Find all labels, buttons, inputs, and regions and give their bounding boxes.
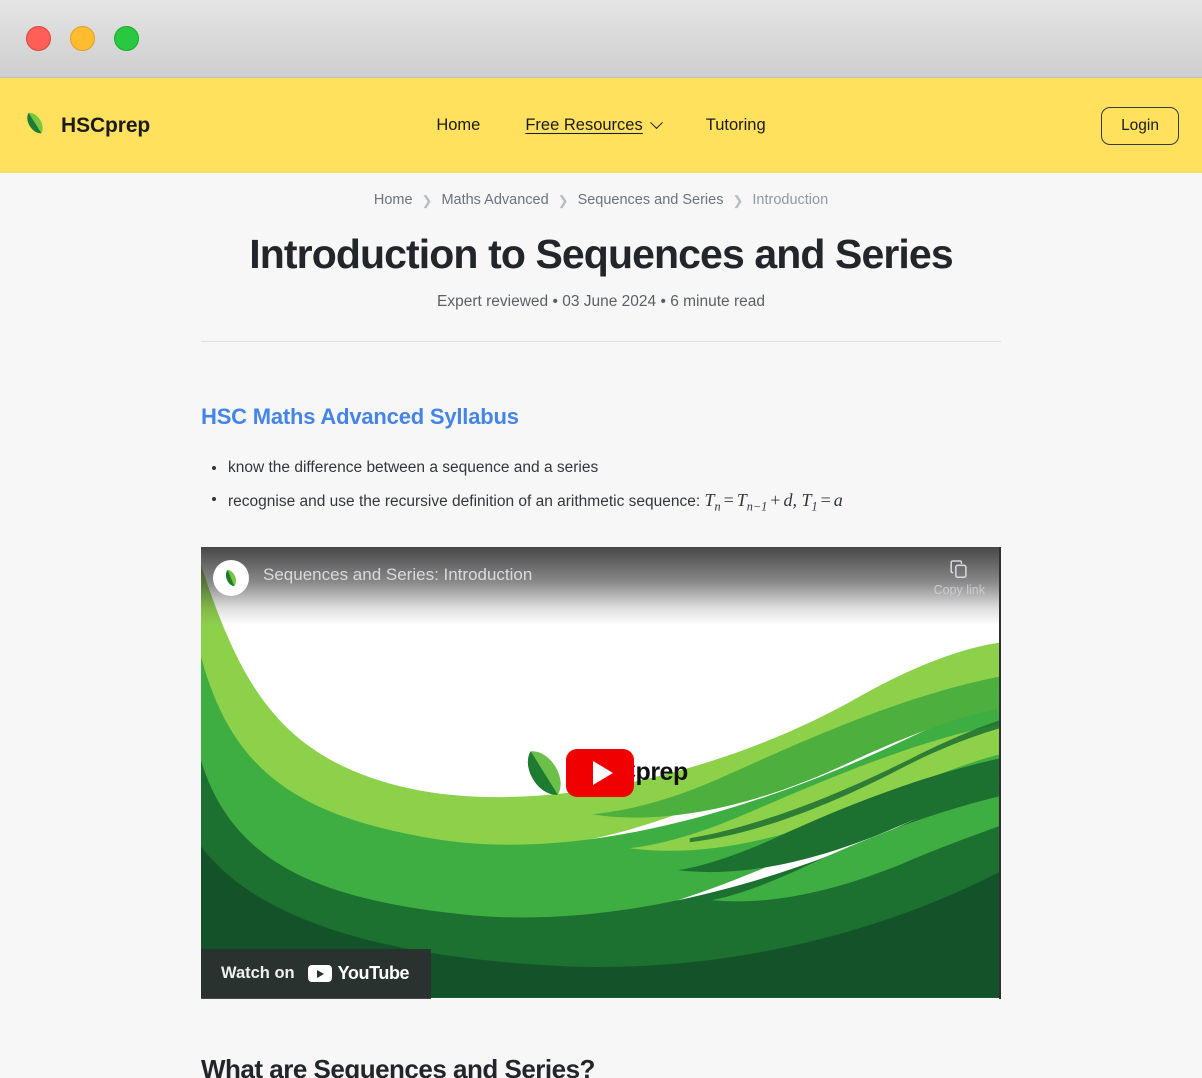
- syllabus-heading: HSC Maths Advanced Syllabus: [201, 404, 1001, 430]
- play-triangle-icon: [593, 761, 613, 785]
- channel-avatar[interactable]: [213, 560, 249, 596]
- syllabus-item-text: know the difference between a sequence a…: [228, 459, 598, 476]
- copy-link-label: Copy link: [934, 583, 985, 597]
- nav-item-free-resources[interactable]: Free Resources: [525, 116, 660, 135]
- breadcrumb-item-maths-advanced[interactable]: Maths Advanced: [441, 192, 548, 208]
- section-heading: What are Sequences and Series?: [201, 1054, 1001, 1078]
- leaf-avatar-icon: [220, 567, 242, 589]
- nav-label-home: Home: [436, 116, 480, 134]
- page-title: Introduction to Sequences and Series: [201, 232, 1001, 277]
- math-formula: Tn=Tn−1+d, T1=a: [704, 490, 842, 510]
- breadcrumb-item-home[interactable]: Home: [374, 192, 413, 208]
- breadcrumb: Home ❯ Maths Advanced ❯ Sequences and Se…: [201, 173, 1001, 208]
- traffic-lights: [26, 26, 139, 51]
- close-button-icon[interactable]: [26, 26, 51, 51]
- browser-window: HSCprep Home Free Resources Tutoring Log…: [0, 0, 1202, 1078]
- youtube-wordmark-text: YouTube: [338, 963, 410, 984]
- site-header: HSCprep Home Free Resources Tutoring Log…: [0, 78, 1202, 173]
- nav-label-tutoring: Tutoring: [706, 116, 766, 134]
- page-body: Home ❯ Maths Advanced ❯ Sequences and Se…: [0, 173, 1202, 1078]
- syllabus-list: know the difference between a sequence a…: [201, 456, 1001, 517]
- content-container: Home ❯ Maths Advanced ❯ Sequences and Se…: [201, 173, 1001, 1078]
- syllabus-item: know the difference between a sequence a…: [228, 456, 1001, 480]
- nav-item-tutoring[interactable]: Tutoring: [706, 116, 766, 135]
- youtube-logo: YouTube: [308, 963, 410, 984]
- syllabus-item-text: recognise and use the recursive definiti…: [228, 493, 704, 510]
- breadcrumb-separator-icon: ❯: [732, 194, 743, 207]
- video-topbar: Sequences and Series: Introduction Copy …: [201, 547, 999, 625]
- syllabus-item: recognise and use the recursive definiti…: [228, 487, 1001, 517]
- article-meta: Expert reviewed • 03 June 2024 • 6 minut…: [201, 293, 1001, 311]
- watch-on-label: Watch on: [221, 964, 295, 983]
- copy-icon: [948, 558, 970, 580]
- breadcrumb-item-introduction: Introduction: [752, 192, 828, 208]
- copy-link-button[interactable]: Copy link: [934, 558, 985, 597]
- breadcrumb-item-sequences-and-series[interactable]: Sequences and Series: [578, 192, 724, 208]
- watch-on-youtube-button[interactable]: Watch on YouTube: [201, 949, 431, 999]
- breadcrumb-separator-icon: ❯: [558, 194, 569, 207]
- login-button[interactable]: Login: [1101, 107, 1179, 145]
- nav-label-free-resources: Free Resources: [525, 116, 642, 135]
- youtube-play-badge-icon: [308, 965, 332, 982]
- nav-item-home[interactable]: Home: [436, 116, 480, 135]
- chevron-down-icon: [650, 116, 663, 129]
- breadcrumb-separator-icon: ❯: [422, 194, 433, 207]
- video-player[interactable]: Sequences and Series: Introduction Copy …: [201, 547, 1001, 999]
- header-divider: [201, 341, 1001, 342]
- window-titlebar: [0, 0, 1202, 78]
- minimize-button-icon[interactable]: [70, 26, 95, 51]
- main-navigation: Home Free Resources Tutoring: [0, 116, 1202, 135]
- maximize-button-icon[interactable]: [114, 26, 139, 51]
- video-title[interactable]: Sequences and Series: Introduction: [263, 565, 532, 585]
- play-button-icon[interactable]: [566, 749, 634, 797]
